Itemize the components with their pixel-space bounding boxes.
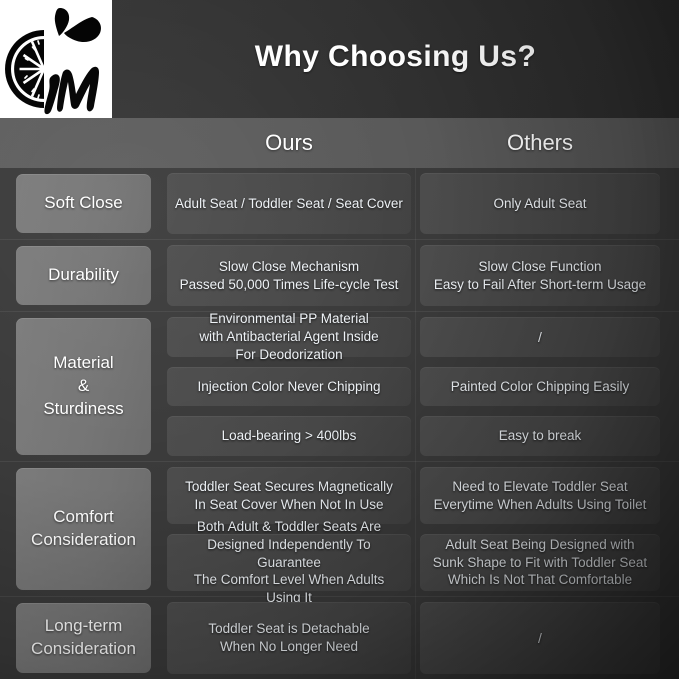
lemon-slice-splash-icon: [0, 0, 112, 118]
table-row: Comfort ConsiderationToddler Seat Secure…: [0, 462, 679, 597]
cell-text: Slow Close Function Easy to Fail After S…: [434, 258, 646, 294]
brand-logo: [0, 0, 112, 118]
table-row: Material & SturdinessEnvironmental PP Ma…: [0, 312, 679, 462]
cell-others: Adult Seat Being Designed with Sunk Shap…: [420, 534, 660, 591]
table-row: DurabilitySlow Close Mechanism Passed 50…: [0, 240, 679, 312]
header-band: Why Choosing Us?: [0, 0, 679, 118]
cell-text: Painted Color Chipping Easily: [451, 378, 630, 396]
cell-text: Environmental PP Material with Antibacte…: [199, 310, 378, 363]
cell-text: Easy to break: [499, 427, 582, 445]
row-label-cell: Soft Close: [16, 174, 151, 233]
cell-text: Load-bearing > 400lbs: [222, 427, 357, 445]
cell-ours: Slow Close Mechanism Passed 50,000 Times…: [167, 245, 411, 306]
cell-text: Toddler Seat Secures Magnetically In Sea…: [185, 478, 393, 514]
cell-others: Painted Color Chipping Easily: [420, 367, 660, 407]
cell-ours: Both Adult & Toddler Seats Are Designed …: [167, 534, 411, 591]
cell-ours: Toddler Seat is Detachable When No Longe…: [167, 602, 411, 674]
row-cells: Toddler Seat is Detachable When No Longe…: [167, 597, 660, 679]
table-subrow: Environmental PP Material with Antibacte…: [167, 312, 660, 362]
row-label-cell: Material & Sturdiness: [16, 318, 151, 455]
cell-text: Both Adult & Toddler Seats Are Designed …: [175, 518, 403, 607]
cell-text: Slow Close Mechanism Passed 50,000 Times…: [180, 258, 399, 294]
column-header-others: Others: [420, 118, 660, 168]
cell-others: Only Adult Seat: [420, 173, 660, 234]
cell-ours: Environmental PP Material with Antibacte…: [167, 317, 411, 357]
cell-others: /: [420, 602, 660, 674]
table-subrow: Injection Color Never ChippingPainted Co…: [167, 362, 660, 412]
comparison-table: Soft CloseAdult Seat / Toddler Seat / Se…: [0, 168, 679, 679]
cell-text: Only Adult Seat: [493, 195, 586, 213]
table-subrow: Both Adult & Toddler Seats Are Designed …: [167, 529, 660, 596]
cell-others: /: [420, 317, 660, 357]
cell-others: Easy to break: [420, 416, 660, 456]
table-subrow: Slow Close Mechanism Passed 50,000 Times…: [167, 240, 660, 311]
row-label-cell: Comfort Consideration: [16, 468, 151, 590]
column-header-ours: Ours: [167, 118, 411, 168]
page-title: Why Choosing Us?: [112, 0, 679, 118]
cell-text: Adult Seat / Toddler Seat / Seat Cover: [175, 195, 403, 213]
cell-ours: Toddler Seat Secures Magnetically In Sea…: [167, 467, 411, 524]
row-cells: Environmental PP Material with Antibacte…: [167, 312, 660, 461]
table-subrow: Load-bearing > 400lbsEasy to break: [167, 411, 660, 461]
cell-text: Adult Seat Being Designed with Sunk Shap…: [433, 536, 647, 589]
cell-others: Slow Close Function Easy to Fail After S…: [420, 245, 660, 306]
table-row: Long-term ConsiderationToddler Seat is D…: [0, 597, 679, 679]
cell-text: Injection Color Never Chipping: [197, 378, 380, 396]
cell-ours: Injection Color Never Chipping: [167, 367, 411, 407]
table-subrow: Adult Seat / Toddler Seat / Seat CoverOn…: [167, 168, 660, 239]
comparison-infographic: Why Choosing Us? Ours Others Soft CloseA…: [0, 0, 679, 679]
cell-text: Need to Elevate Toddler Seat Everytime W…: [434, 478, 647, 514]
cell-text: /: [538, 328, 542, 346]
row-cells: Slow Close Mechanism Passed 50,000 Times…: [167, 240, 660, 311]
table-row: Soft CloseAdult Seat / Toddler Seat / Se…: [0, 168, 679, 240]
row-label-cell: Durability: [16, 246, 151, 305]
cell-text: /: [538, 629, 542, 647]
cell-ours: Adult Seat / Toddler Seat / Seat Cover: [167, 173, 411, 234]
cell-text: Toddler Seat is Detachable When No Longe…: [208, 620, 369, 656]
column-header-band: Ours Others: [0, 118, 679, 168]
cell-others: Need to Elevate Toddler Seat Everytime W…: [420, 467, 660, 524]
row-cells: Adult Seat / Toddler Seat / Seat CoverOn…: [167, 168, 660, 239]
table-subrow: Toddler Seat is Detachable When No Longe…: [167, 597, 660, 679]
cell-ours: Load-bearing > 400lbs: [167, 416, 411, 456]
row-cells: Toddler Seat Secures Magnetically In Sea…: [167, 462, 660, 596]
row-label-cell: Long-term Consideration: [16, 603, 151, 673]
